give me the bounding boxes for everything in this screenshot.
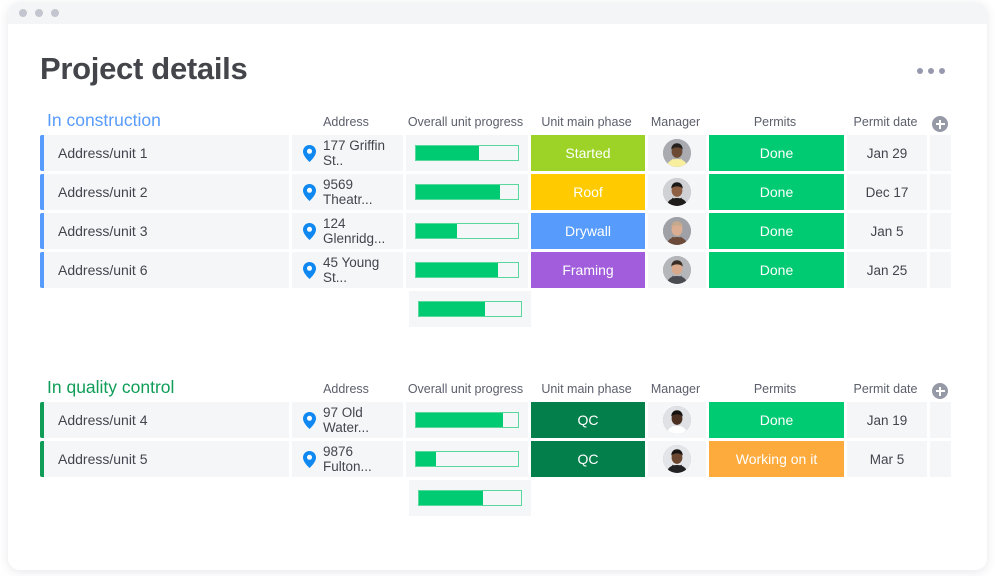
cell-unit-name[interactable]: Address/unit 1 [44, 135, 289, 171]
progress-bar-fill [416, 185, 500, 199]
column-header-address[interactable]: Address [289, 383, 403, 397]
cell-blank[interactable] [930, 174, 951, 210]
window-dot-maximize[interactable] [51, 9, 59, 17]
cell-permit-date[interactable]: Jan 5 [847, 213, 927, 249]
summary-progress-bar-fill [419, 491, 483, 505]
progress-bar [415, 412, 519, 428]
cell-blank[interactable] [930, 213, 951, 249]
cell-blank[interactable] [930, 402, 951, 438]
cell-blank[interactable] [930, 441, 951, 477]
summary-spacer [40, 291, 409, 327]
table-row[interactable]: Address/unit 59876 Fulton...QCWorking on… [40, 441, 955, 477]
address-text: 97 Old Water... [323, 405, 403, 435]
cell-permit-date[interactable]: Jan 29 [847, 135, 927, 171]
location-pin-icon [303, 184, 316, 201]
group-title-qc[interactable]: In quality control [40, 379, 174, 397]
location-pin-icon [303, 262, 316, 279]
summary-progress-bar-fill [419, 302, 485, 316]
column-header-address[interactable]: Address [289, 116, 403, 130]
cell-manager[interactable] [648, 174, 706, 210]
cell-permit-date[interactable]: Jan 25 [847, 252, 927, 288]
group-header: In quality controlAddressOverall unit pr… [40, 374, 955, 396]
column-header-manager[interactable]: Manager [645, 116, 706, 130]
cell-address[interactable]: 177 Griffin St.. [292, 135, 403, 171]
cell-summary-progress [409, 480, 531, 516]
column-header-permit-date[interactable]: Permit date [844, 383, 927, 397]
progress-bar [415, 145, 519, 161]
cell-manager[interactable] [648, 213, 706, 249]
progress-bar-fill [416, 452, 436, 466]
window-dot-minimize[interactable] [35, 9, 43, 17]
progress-bar [415, 451, 519, 467]
column-headers: AddressOverall unit progressUnit main ph… [289, 383, 948, 397]
cell-manager[interactable] [648, 402, 706, 438]
table-row[interactable]: Address/unit 1177 Griffin St..StartedDon… [40, 135, 955, 171]
cell-address[interactable]: 124 Glenridg... [292, 213, 403, 249]
address-text: 9569 Theatr... [323, 177, 403, 207]
app-window: Project details In constructionAddressOv… [8, 2, 987, 570]
cell-permits[interactable]: Done [709, 174, 844, 210]
cell-manager[interactable] [648, 252, 706, 288]
location-pin-icon [303, 451, 316, 468]
cell-blank[interactable] [930, 252, 951, 288]
progress-bar-fill [416, 263, 498, 277]
group-summary-row [40, 480, 955, 516]
progress-bar [415, 223, 519, 239]
cell-unit-name[interactable]: Address/unit 4 [44, 402, 289, 438]
page-body: Project details In constructionAddressOv… [8, 24, 987, 570]
cell-unit-phase[interactable]: Drywall [531, 213, 645, 249]
cell-progress[interactable] [406, 252, 528, 288]
progress-bar-fill [416, 413, 503, 427]
address-text: 9876 Fulton... [323, 444, 403, 474]
address-text: 45 Young St... [323, 255, 403, 285]
cell-permit-date[interactable]: Dec 17 [847, 174, 927, 210]
manager-avatar-2[interactable] [663, 178, 691, 206]
manager-avatar-3[interactable] [663, 217, 691, 245]
cell-unit-phase[interactable]: QC [531, 402, 645, 438]
add-column-button[interactable] [932, 116, 948, 132]
cell-unit-phase[interactable]: Framing [531, 252, 645, 288]
column-header-overall-unit-progress[interactable]: Overall unit progress [403, 116, 528, 130]
progress-bar-fill [416, 224, 457, 238]
cell-permits[interactable]: Done [709, 402, 844, 438]
kebab-dot-3 [939, 68, 945, 74]
table-row[interactable]: Address/unit 3124 Glenridg...DrywallDone… [40, 213, 955, 249]
cell-permit-date[interactable]: Mar 5 [847, 441, 927, 477]
cell-address[interactable]: 97 Old Water... [292, 402, 403, 438]
summary-spacer [40, 480, 409, 516]
cell-progress[interactable] [406, 174, 528, 210]
cell-permit-date[interactable]: Jan 19 [847, 402, 927, 438]
column-header-permits[interactable]: Permits [706, 383, 844, 397]
cell-unit-name[interactable]: Address/unit 2 [44, 174, 289, 210]
cell-address[interactable]: 9569 Theatr... [292, 174, 403, 210]
cell-address[interactable]: 9876 Fulton... [292, 441, 403, 477]
group-header: In constructionAddressOverall unit progr… [40, 107, 955, 129]
manager-avatar-5[interactable] [663, 406, 691, 434]
address-text: 124 Glenridg... [323, 216, 403, 246]
page-title: Project details [40, 50, 247, 87]
groups-container: In constructionAddressOverall unit progr… [40, 107, 955, 516]
group-summary-row [40, 291, 955, 327]
column-header-unit-main-phase[interactable]: Unit main phase [528, 383, 645, 397]
cell-address[interactable]: 45 Young St... [292, 252, 403, 288]
manager-avatar-4[interactable] [663, 256, 691, 284]
column-header-permit-date[interactable]: Permit date [844, 116, 927, 130]
column-header-manager[interactable]: Manager [645, 383, 706, 397]
cell-permits[interactable]: Done [709, 213, 844, 249]
table-row[interactable]: Address/unit 645 Young St...FramingDoneJ… [40, 252, 955, 288]
group-title-construction[interactable]: In construction [40, 112, 161, 130]
progress-bar-fill [416, 146, 479, 160]
cell-permits[interactable]: Working on it [709, 441, 844, 477]
manager-avatar-6[interactable] [663, 445, 691, 473]
column-header-overall-unit-progress[interactable]: Overall unit progress [403, 383, 528, 397]
page-header: Project details [40, 24, 955, 87]
cell-progress[interactable] [406, 402, 528, 438]
table-row[interactable]: Address/unit 497 Old Water...QCDoneJan 1… [40, 402, 955, 438]
location-pin-icon [303, 412, 316, 429]
cell-permits[interactable]: Done [709, 252, 844, 288]
group-qc: In quality controlAddressOverall unit pr… [40, 374, 955, 516]
add-column-button[interactable] [932, 383, 948, 399]
cell-progress[interactable] [406, 135, 528, 171]
cell-progress[interactable] [406, 213, 528, 249]
kebab-dot-2 [928, 68, 934, 74]
cell-unit-name[interactable]: Address/unit 3 [44, 213, 289, 249]
cell-unit-phase[interactable]: Roof [531, 174, 645, 210]
cell-permits[interactable]: Done [709, 135, 844, 171]
window-titlebar [8, 2, 987, 24]
column-header-permits[interactable]: Permits [706, 116, 844, 130]
window-dot-close[interactable] [19, 9, 27, 17]
cell-summary-progress [409, 291, 531, 327]
cell-manager[interactable] [648, 135, 706, 171]
group-construction: In constructionAddressOverall unit progr… [40, 107, 955, 327]
cell-unit-phase[interactable]: Started [531, 135, 645, 171]
cell-unit-name[interactable]: Address/unit 6 [44, 252, 289, 288]
location-pin-icon [303, 223, 316, 240]
cell-blank[interactable] [930, 135, 951, 171]
location-pin-icon [303, 145, 316, 162]
column-headers: AddressOverall unit progressUnit main ph… [289, 116, 948, 130]
kebab-menu-icon[interactable] [917, 68, 945, 74]
kebab-dot-1 [917, 68, 923, 74]
address-text: 177 Griffin St.. [323, 138, 403, 168]
cell-progress[interactable] [406, 441, 528, 477]
progress-bar [415, 184, 519, 200]
cell-unit-name[interactable]: Address/unit 5 [44, 441, 289, 477]
summary-progress-bar [418, 490, 522, 506]
table-row[interactable]: Address/unit 29569 Theatr...RoofDoneDec … [40, 174, 955, 210]
manager-avatar-1[interactable] [663, 139, 691, 167]
cell-manager[interactable] [648, 441, 706, 477]
summary-progress-bar [418, 301, 522, 317]
progress-bar [415, 262, 519, 278]
column-header-unit-main-phase[interactable]: Unit main phase [528, 116, 645, 130]
cell-unit-phase[interactable]: QC [531, 441, 645, 477]
